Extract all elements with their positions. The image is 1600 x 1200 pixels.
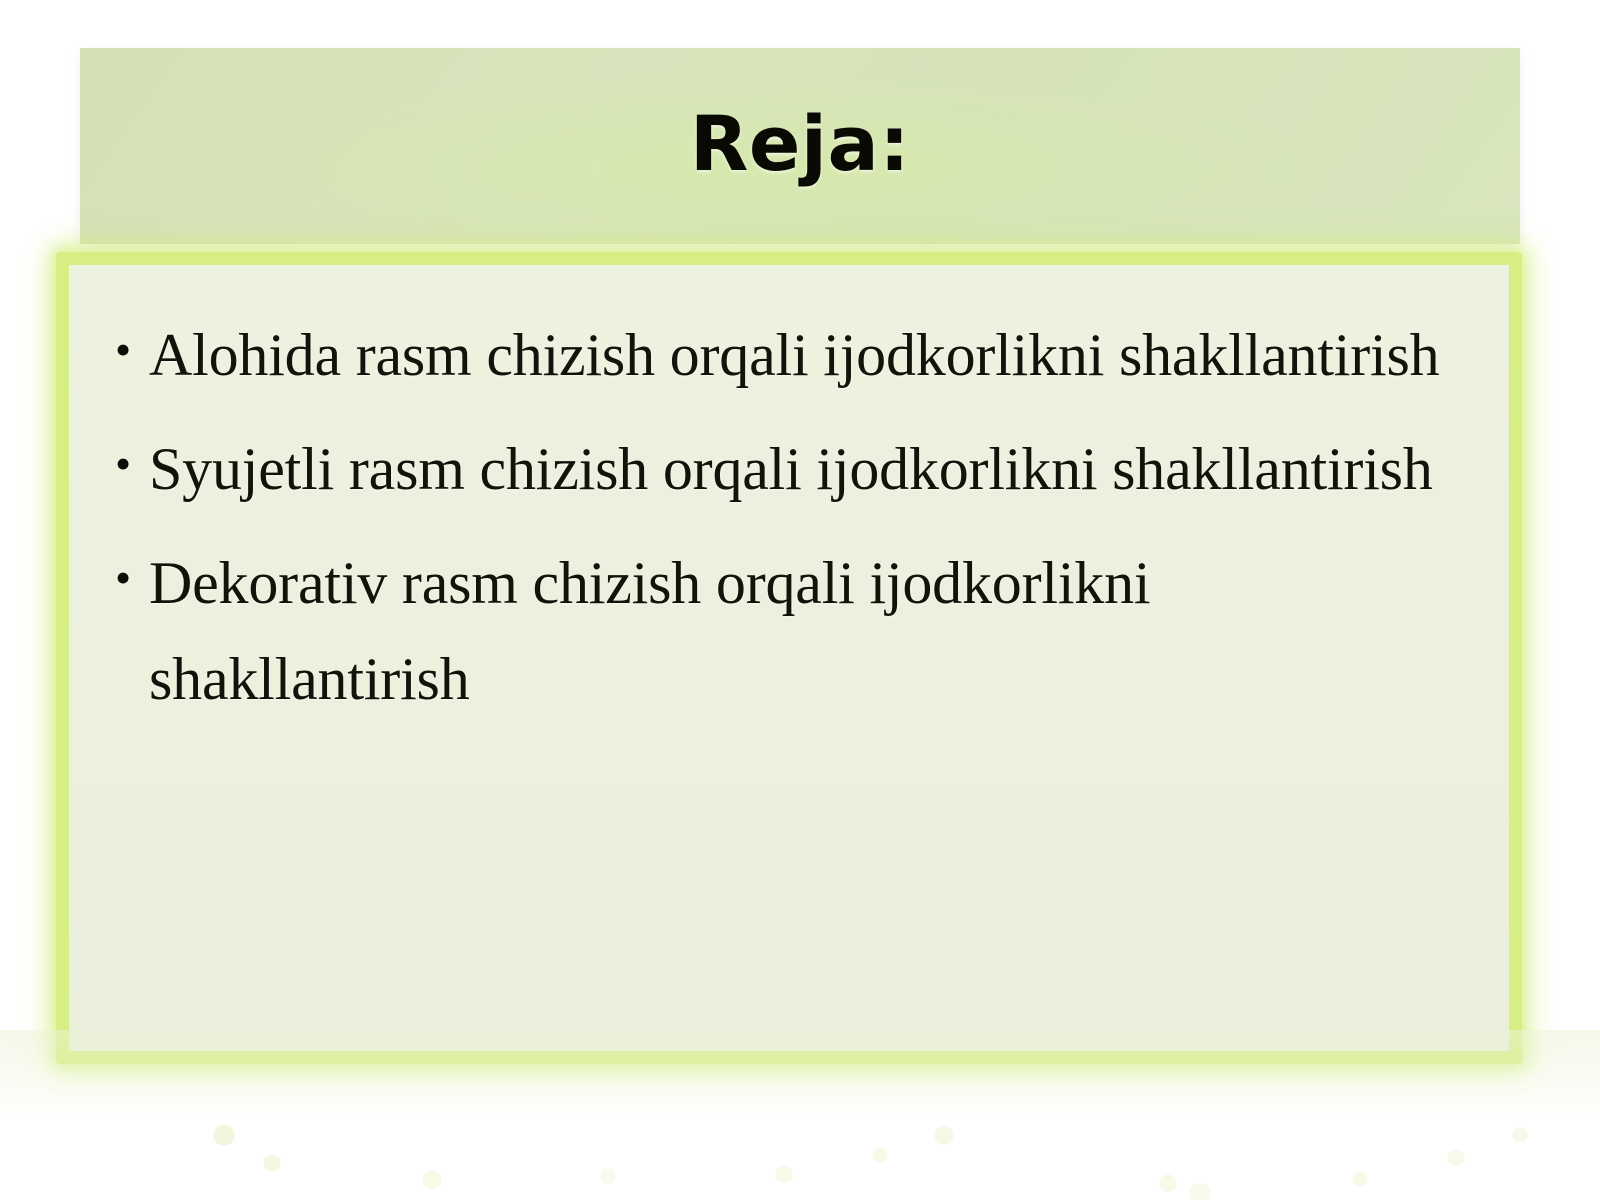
- bullet-point-icon: •: [103, 307, 149, 393]
- list-item: • Alohida rasm chizish orqali ijodkorlik…: [103, 307, 1479, 403]
- bullet-point-icon: •: [103, 421, 149, 507]
- slide-title-bar: Reja:: [80, 48, 1520, 244]
- bullet-point-icon: •: [103, 535, 149, 621]
- list-item: • Syujetli rasm chizish orqali ijodkorli…: [103, 421, 1479, 517]
- presentation-slide: Reja: • Alohida rasm chizish orqali ijod…: [0, 0, 1600, 1200]
- slide-content-box: • Alohida rasm chizish orqali ijodkorlik…: [56, 252, 1522, 1064]
- bullet-list: • Alohida rasm chizish orqali ijodkorlik…: [69, 265, 1509, 727]
- list-item-label: Alohida rasm chizish orqali ijodkorlikni…: [149, 307, 1479, 403]
- list-item-label: Syujetli rasm chizish orqali ijodkorlikn…: [149, 421, 1479, 517]
- list-item: • Dekorativ rasm chizish orqali ijodkorl…: [103, 535, 1479, 727]
- list-item-label: Dekorativ rasm chizish orqali ijodkorlik…: [149, 535, 1479, 727]
- page-title: Reja:: [690, 106, 910, 186]
